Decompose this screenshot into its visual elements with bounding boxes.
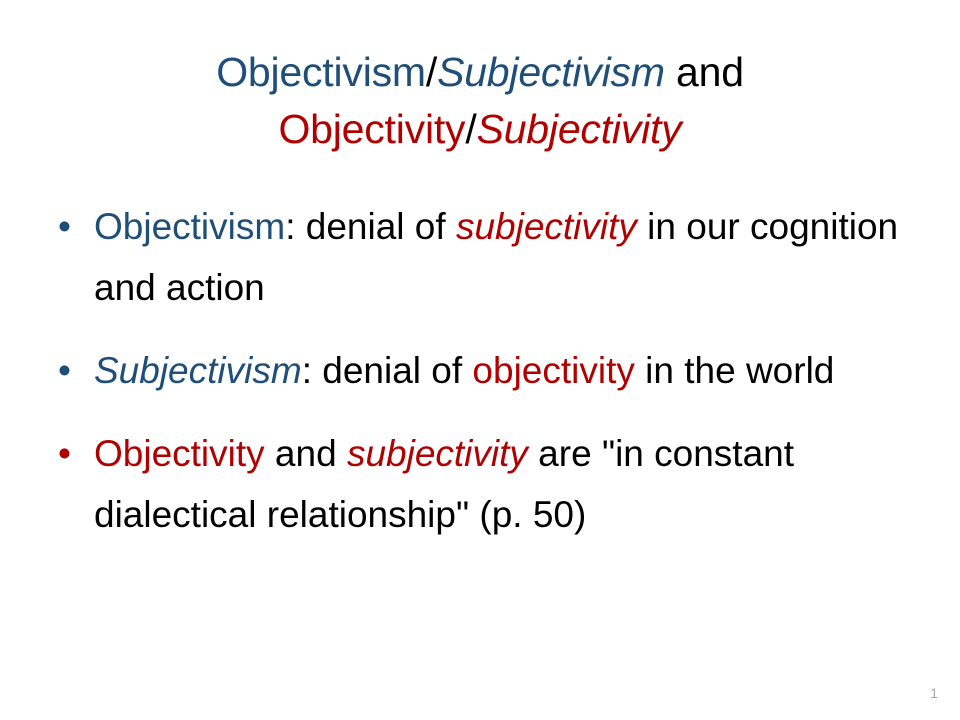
slide-title: Objectivism/Subjectivism and Objectivity… <box>60 44 900 158</box>
text-run: / <box>426 49 437 95</box>
text-run: and <box>265 433 347 474</box>
slide-body: • Objectivism: denial of subjectivity in… <box>44 196 924 545</box>
text-run: subjectivity <box>347 433 528 474</box>
text-run: Subjectivism <box>437 49 665 95</box>
bullet-text: Objectivism: denial of subjectivity in o… <box>94 206 908 308</box>
bullet-text: Subjectivism: denial of objectivity in t… <box>94 350 834 391</box>
title-line-1: Objectivism/Subjectivism and <box>60 44 900 101</box>
bullet-text: Objectivity and subjectivity are "in con… <box>94 433 804 535</box>
text-run: Objectivity <box>278 106 465 152</box>
bullet-marker-icon: • <box>58 196 71 257</box>
bullet-item: • Objectivism: denial of subjectivity in… <box>44 196 924 318</box>
title-line-2: Objectivity/Subjectivity <box>60 101 900 158</box>
text-run: / <box>465 106 476 152</box>
bullet-marker-icon: • <box>58 340 71 401</box>
text-run: and <box>665 49 744 95</box>
text-run: : denial of <box>285 206 456 247</box>
text-run: subjectivity <box>456 206 637 247</box>
bullet-item: • Objectivity and subjectivity are "in c… <box>44 423 924 545</box>
text-run: in the world <box>635 350 835 391</box>
text-run: Objectivism <box>94 206 285 247</box>
text-run: Objectivity <box>94 433 265 474</box>
text-run: objectivity <box>472 350 634 391</box>
slide: Objectivism/Subjectivism and Objectivity… <box>0 0 960 720</box>
text-run: : denial of <box>302 350 473 391</box>
bullet-marker-icon: • <box>58 423 71 484</box>
page-number: 1 <box>930 684 938 702</box>
text-run: Objectivism <box>216 49 426 95</box>
text-run: Subjectivism <box>94 350 302 391</box>
bullet-item: • Subjectivism: denial of objectivity in… <box>44 340 924 401</box>
text-run: Subjectivity <box>477 106 682 152</box>
